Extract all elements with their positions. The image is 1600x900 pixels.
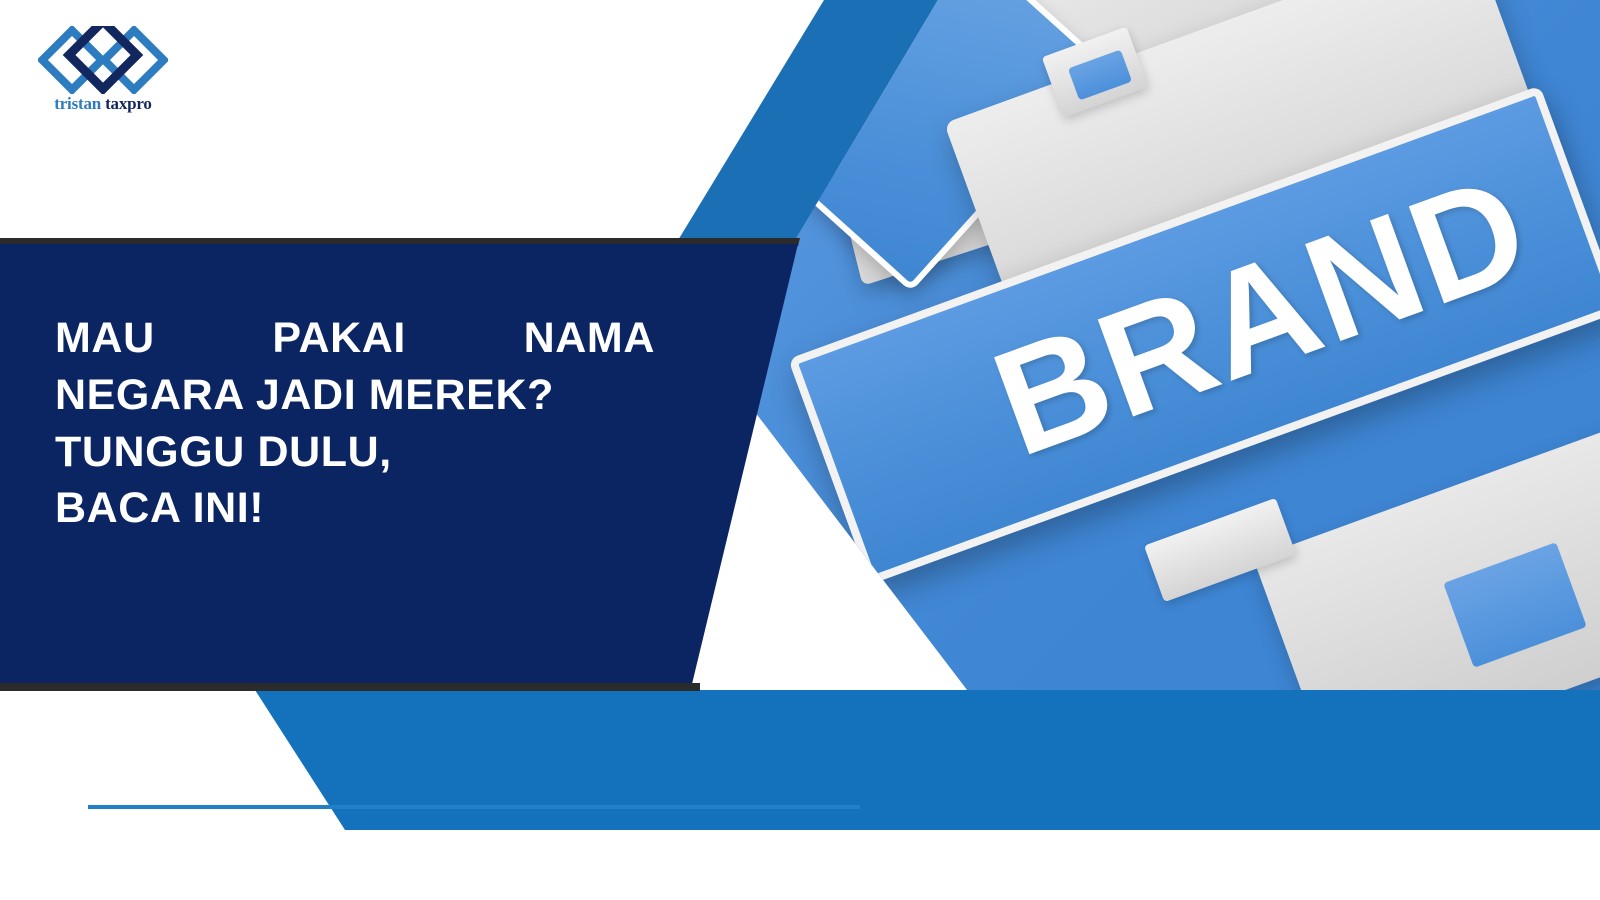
headline-line-3: TUNGGU DULU,	[55, 424, 655, 481]
logo[interactable]: tristan taxpro	[38, 26, 168, 122]
headline-line-2: NEGARA JADI MEREK?	[55, 367, 655, 424]
headline-line-4: BACA INI!	[55, 480, 655, 537]
logo-wordmark: tristan taxpro	[38, 94, 168, 114]
logo-word-taxpro: taxpro	[101, 94, 152, 113]
brand-arrows-image: BRAND	[720, 0, 1600, 733]
headline-text-block: MAU PAKAI NAMA NEGARA JADI MEREK? TUNGGU…	[55, 310, 655, 537]
navy-panel-bottom-edge	[0, 683, 700, 691]
slide-canvas: BRAND MAU PAKAI NAMA NEGARA JADI MEREK? …	[0, 0, 1600, 900]
headline-line-1: MAU PAKAI NAMA	[55, 310, 655, 367]
logo-word-tristan: tristan	[54, 94, 101, 113]
triple-diamond-logo-icon	[38, 26, 168, 94]
bottom-accent-rule	[88, 805, 860, 809]
